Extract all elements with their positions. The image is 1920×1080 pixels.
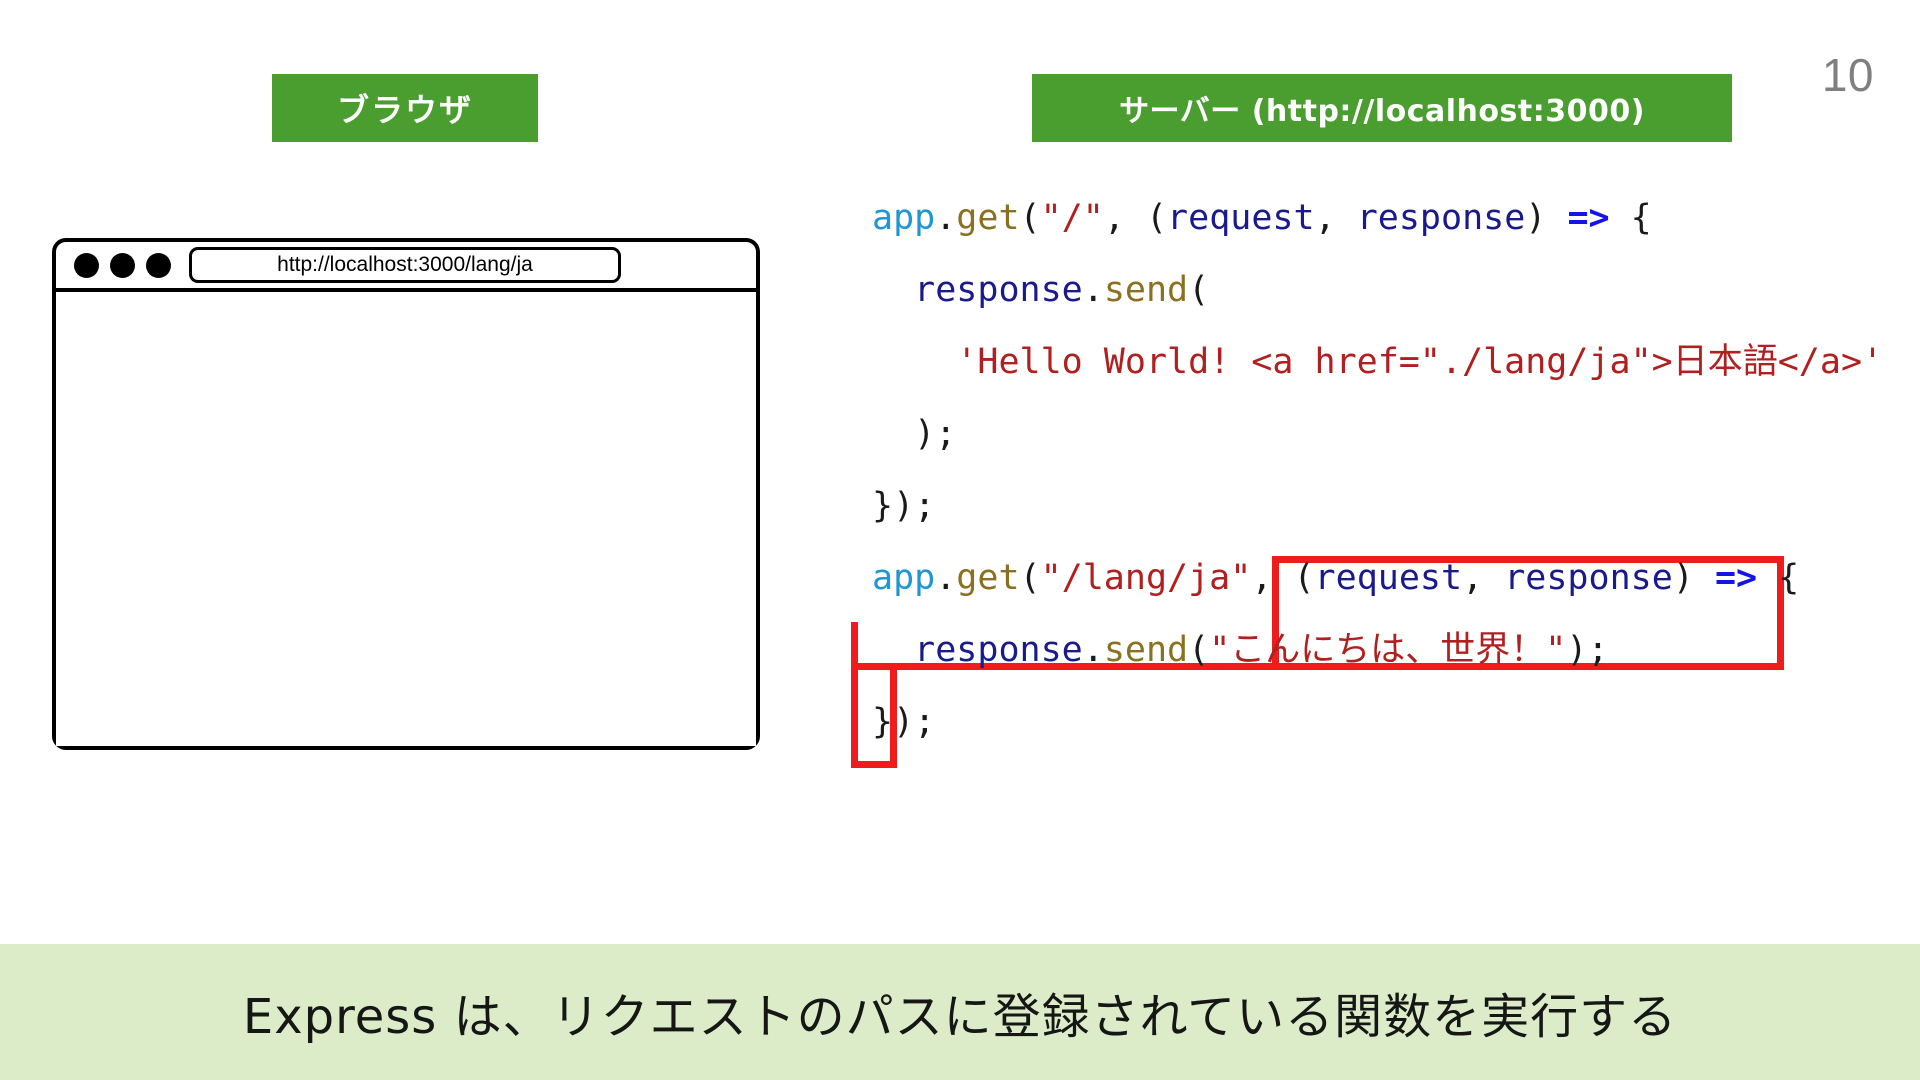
traffic-light-dot-icon[interactable] (74, 253, 99, 278)
code-token: 'Hello World! <a href="./lang/ja">日本語</a… (956, 342, 1883, 382)
code-line: }); (872, 470, 1883, 542)
code-token: response (1504, 558, 1673, 598)
page-number: 10 (1822, 52, 1874, 98)
browser-window-mockup: http://localhost:3000/lang/ja (52, 238, 760, 750)
server-code-block: app.get("/", (request, response) => { re… (872, 182, 1883, 758)
code-token (872, 270, 914, 310)
code-token: ( (1020, 198, 1041, 238)
code-token: { (1757, 558, 1799, 598)
code-token: , (1315, 198, 1357, 238)
caption-text: Express は、リクエストのパスに登録されている関数を実行する (243, 977, 1677, 1047)
code-token: ( (1188, 270, 1209, 310)
browser-viewport (56, 292, 756, 746)
code-token: ); (872, 414, 956, 454)
code-token: . (935, 198, 956, 238)
code-token: => (1567, 198, 1609, 238)
code-token: get (956, 198, 1019, 238)
code-line: response.send("こんにちは、世界！"); (872, 614, 1883, 686)
code-token: . (935, 558, 956, 598)
slide-root: 10 ブラウザ サーバー (http://localhost:3000) htt… (0, 0, 1920, 1080)
code-token (872, 342, 956, 382)
caption-band: Express は、リクエストのパスに登録されている関数を実行する (0, 944, 1920, 1080)
code-token (872, 630, 914, 670)
code-token: }); (872, 486, 935, 526)
code-token: . (1083, 270, 1104, 310)
code-token: ( (1293, 558, 1314, 598)
code-token: }); (872, 702, 935, 742)
code-token: get (956, 558, 1019, 598)
code-token: response (914, 630, 1083, 670)
code-token: , (1251, 558, 1293, 598)
browser-panel-label: ブラウザ (272, 74, 538, 142)
code-token: . (1083, 630, 1104, 670)
code-line: }); (872, 686, 1883, 758)
code-line: response.send( (872, 254, 1883, 326)
code-token: ) (1673, 558, 1715, 598)
code-token: response (914, 270, 1083, 310)
code-token: app (872, 558, 935, 598)
code-token: request (1315, 558, 1463, 598)
address-bar-url: http://localhost:3000/lang/ja (277, 253, 533, 277)
code-token: request (1167, 198, 1315, 238)
code-token: ) (1525, 198, 1567, 238)
address-bar[interactable]: http://localhost:3000/lang/ja (189, 247, 621, 283)
code-line: app.get("/lang/ja", (request, response) … (872, 542, 1883, 614)
code-token: , (1462, 558, 1504, 598)
window-controls (56, 253, 171, 278)
traffic-light-dot-icon[interactable] (110, 253, 135, 278)
code-token: => (1715, 558, 1757, 598)
code-token: , (1104, 198, 1146, 238)
browser-chrome-bar: http://localhost:3000/lang/ja (56, 242, 756, 292)
code-token: send (1104, 270, 1188, 310)
code-token: "こんにちは、世界！" (1209, 630, 1566, 670)
code-token: ( (1146, 198, 1167, 238)
code-token: "/" (1041, 198, 1104, 238)
code-token: send (1104, 630, 1188, 670)
code-token: ( (1188, 630, 1209, 670)
code-line: 'Hello World! <a href="./lang/ja">日本語</a… (872, 326, 1883, 398)
code-token: app (872, 198, 935, 238)
code-token: ( (1020, 558, 1041, 598)
server-panel-label: サーバー (http://localhost:3000) (1032, 74, 1732, 142)
code-line: app.get("/", (request, response) => { (872, 182, 1883, 254)
code-token: response (1357, 198, 1526, 238)
code-token: { (1610, 198, 1652, 238)
code-token: "/lang/ja" (1041, 558, 1252, 598)
code-token: ); (1566, 630, 1608, 670)
code-line: ); (872, 398, 1883, 470)
traffic-light-dot-icon[interactable] (146, 253, 171, 278)
